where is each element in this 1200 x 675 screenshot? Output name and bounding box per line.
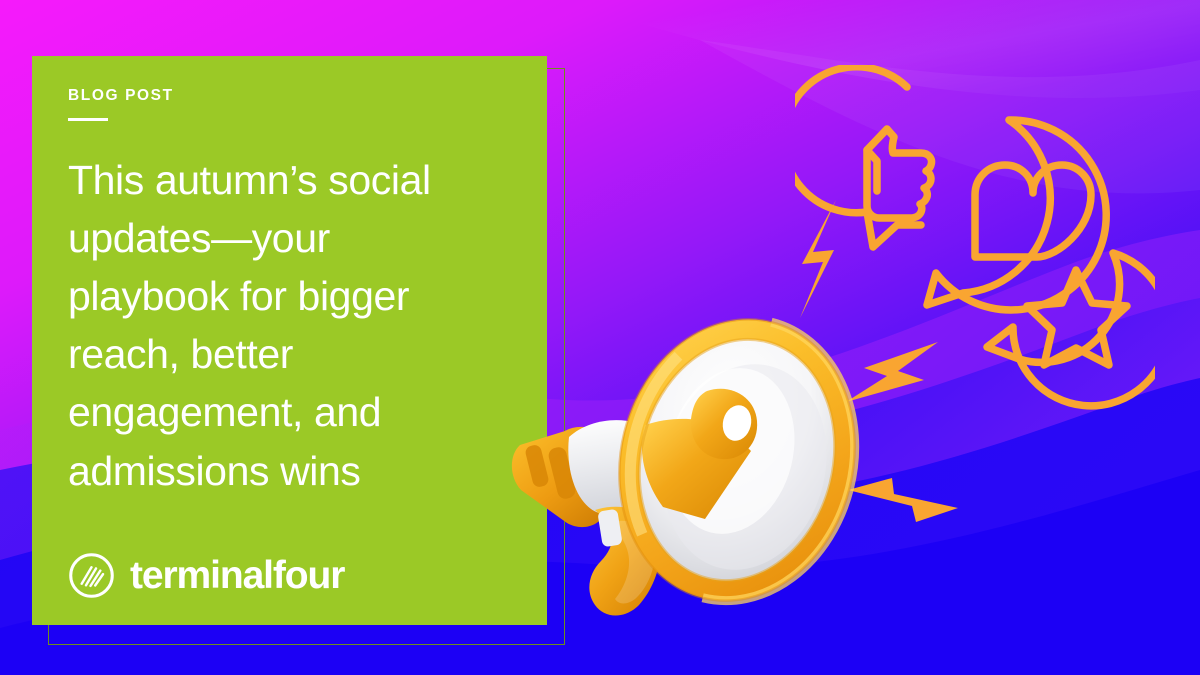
page-title: This autumn’s social updates—your playbo…	[68, 151, 498, 500]
circle-diagonal-stripes-icon	[68, 552, 115, 599]
blog-post-card: BLOG POST This autumn’s social updates—y…	[32, 56, 547, 625]
brand-lockup: terminalfour	[68, 552, 344, 599]
eyebrow-divider	[68, 118, 108, 121]
brand-name: terminalfour	[130, 556, 344, 595]
eyebrow-label: BLOG POST	[68, 88, 527, 104]
social-promo-graphic: BLOG POST This autumn’s social updates—y…	[0, 0, 1200, 675]
